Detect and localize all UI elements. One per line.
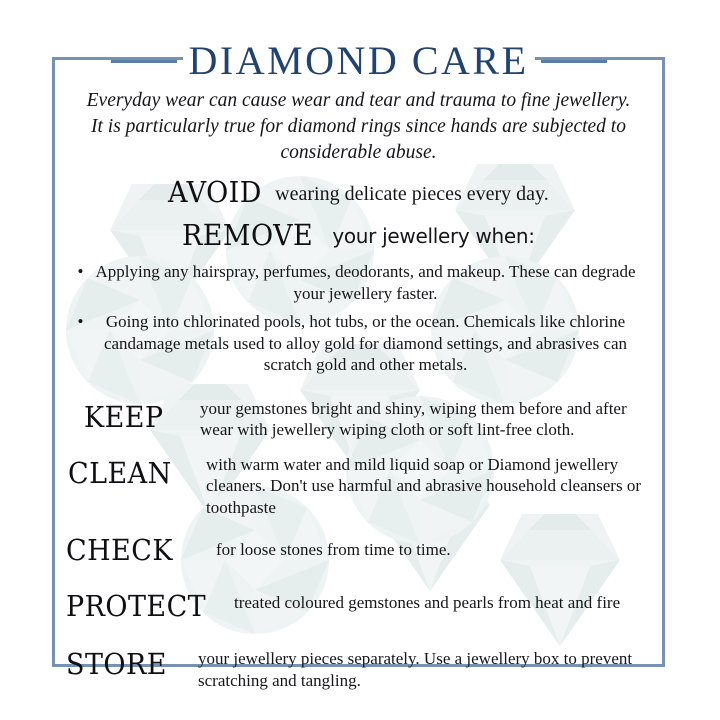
section-keep: KEEP your gemstones bright and shiny, wi… xyxy=(62,398,655,441)
title-row: DIAMOND CARE xyxy=(62,38,655,84)
keep-keyword: KEEP xyxy=(84,400,164,434)
list-item: • Going into chlorinated pools, hot tubs… xyxy=(62,311,655,376)
section-store: STORE your jewellery pieces separately. … xyxy=(62,645,655,691)
list-item-text: Applying any hairspray, perfumes, deodor… xyxy=(88,261,644,304)
protect-text: treated coloured gemstones and pearls fr… xyxy=(228,587,620,614)
section-protect: PROTECT treated coloured gemstones and p… xyxy=(62,587,655,623)
keep-text: your gemstones bright and shiny, wiping … xyxy=(192,398,655,441)
remove-keyword: REMOVE xyxy=(182,221,313,250)
title-rule-left-icon xyxy=(111,60,177,63)
store-keyword-cell: STORE xyxy=(62,645,188,681)
protect-keyword: PROTECT xyxy=(66,589,206,623)
remove-row: REMOVEyour jewellery when: xyxy=(62,221,655,250)
page-title: DIAMOND CARE xyxy=(183,39,535,83)
section-clean: CLEAN with warm water and mild liquid so… xyxy=(62,454,655,519)
section-check: CHECK for loose stones from time to time… xyxy=(62,531,655,567)
intro-paragraph: Everyday wear can cause wear and tear an… xyxy=(80,88,637,166)
title-rule-right-icon xyxy=(541,60,607,63)
store-text: your jewellery pieces separately. Use a … xyxy=(188,645,655,691)
protect-keyword-cell: PROTECT xyxy=(62,587,228,623)
bullet-dot-icon: • xyxy=(74,261,88,283)
store-keyword: STORE xyxy=(66,647,167,681)
bullet-dot-icon: • xyxy=(74,311,88,333)
poster-content: DIAMOND CARE Everyday wear can cause wea… xyxy=(52,38,665,667)
list-item: • Applying any hairspray, perfumes, deod… xyxy=(62,261,655,304)
clean-text: with warm water and mild liquid soap or … xyxy=(198,454,655,519)
keep-keyword-cell: KEEP xyxy=(62,398,192,434)
clean-keyword-cell: CLEAN xyxy=(62,454,198,490)
clean-keyword: CLEAN xyxy=(68,456,172,490)
remove-bullet-list: • Applying any hairspray, perfumes, deod… xyxy=(62,261,655,376)
check-keyword: CHECK xyxy=(66,533,173,567)
check-text: for loose stones from time to time. xyxy=(206,531,451,561)
remove-text: your jewellery when: xyxy=(332,224,534,248)
avoid-keyword: AVOID xyxy=(168,178,262,207)
avoid-text: wearing delicate pieces every day. xyxy=(275,183,549,205)
list-item-text: Going into chlorinated pools, hot tubs, … xyxy=(88,311,644,376)
avoid-row: AVOIDwearing delicate pieces every day. xyxy=(62,178,655,207)
check-keyword-cell: CHECK xyxy=(62,531,206,567)
